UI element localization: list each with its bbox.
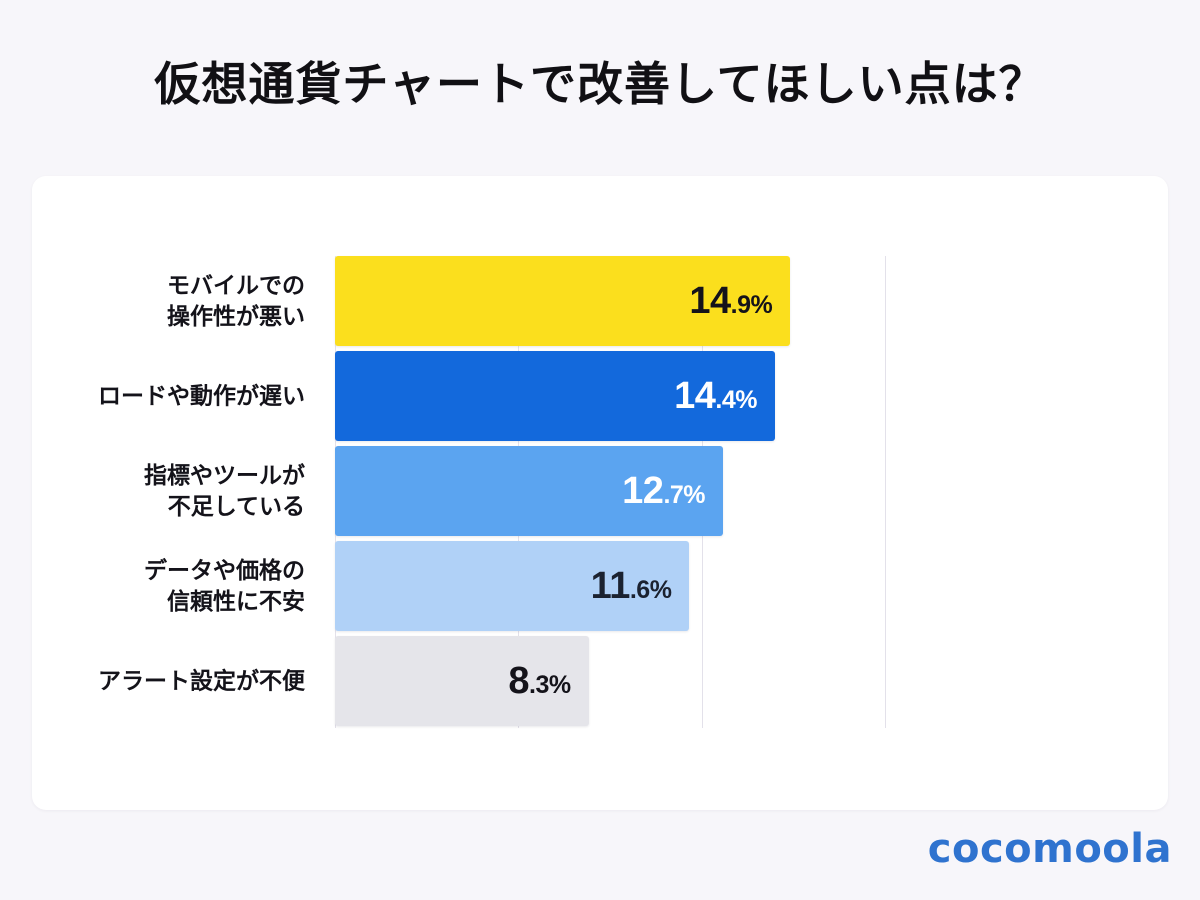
bar: 11.6%: [335, 541, 689, 631]
bar-value-integer: 11: [591, 567, 630, 605]
category-label: アラート設定が不便: [98, 665, 305, 696]
category-label-line: ロードや動作が遅い: [98, 380, 305, 411]
gridline: [885, 256, 886, 728]
bar-row: データや価格の信頼性に不安11.6%: [335, 541, 885, 631]
bar: 14.4%: [335, 351, 775, 441]
bar-value-fraction: .9%: [731, 293, 773, 318]
category-label-line: データや価格の: [144, 555, 305, 586]
bar-value-fraction: .4%: [715, 388, 757, 413]
bar: 8.3%: [335, 636, 589, 726]
category-label-line: 信頼性に不安: [144, 586, 305, 617]
category-label-line: モバイルでの: [167, 270, 305, 301]
category-label-line: 不足している: [144, 491, 305, 522]
category-label-line: 操作性が悪い: [167, 301, 305, 332]
bar: 14.9%: [335, 256, 790, 346]
bar-value-integer: 12: [622, 472, 663, 510]
category-label: ロードや動作が遅い: [98, 380, 305, 411]
category-label-line: アラート設定が不便: [98, 665, 305, 696]
bar-value-label: 14.9%: [689, 282, 790, 320]
bar-value-integer: 8: [508, 662, 529, 700]
bar-row: ロードや動作が遅い14.4%: [335, 351, 885, 441]
brand-logo: cocomoola: [928, 826, 1172, 872]
bar-value-label: 8.3%: [508, 662, 588, 700]
category-label-line: 指標やツールが: [144, 460, 305, 491]
category-label: データや価格の信頼性に不安: [144, 555, 305, 617]
bar-value-label: 11.6%: [591, 567, 690, 605]
bar: 12.7%: [335, 446, 723, 536]
plot-area: モバイルでの操作性が悪い14.9%ロードや動作が遅い14.4%指標やツールが不足…: [335, 256, 885, 728]
bar-value-label: 14.4%: [674, 377, 775, 415]
page-title: 仮想通貨チャートで改善してほしい点は？: [0, 58, 1200, 111]
category-label: モバイルでの操作性が悪い: [167, 270, 305, 332]
bar-value-fraction: .6%: [630, 578, 672, 603]
bar-row: アラート設定が不便8.3%: [335, 636, 885, 726]
chart-page: 仮想通貨チャートで改善してほしい点は？ モバイルでの操作性が悪い14.9%ロード…: [0, 0, 1200, 900]
category-label: 指標やツールが不足している: [144, 460, 305, 522]
bar-value-fraction: .3%: [529, 673, 571, 698]
bar-value-fraction: .7%: [663, 483, 705, 508]
bar-value-integer: 14: [689, 282, 730, 320]
bar-row: モバイルでの操作性が悪い14.9%: [335, 256, 885, 346]
bar-value-integer: 14: [674, 377, 715, 415]
bar-value-label: 12.7%: [622, 472, 723, 510]
chart-card: モバイルでの操作性が悪い14.9%ロードや動作が遅い14.4%指標やツールが不足…: [32, 176, 1168, 810]
bar-rows: モバイルでの操作性が悪い14.9%ロードや動作が遅い14.4%指標やツールが不足…: [335, 256, 885, 728]
bar-row: 指標やツールが不足している12.7%: [335, 446, 885, 536]
